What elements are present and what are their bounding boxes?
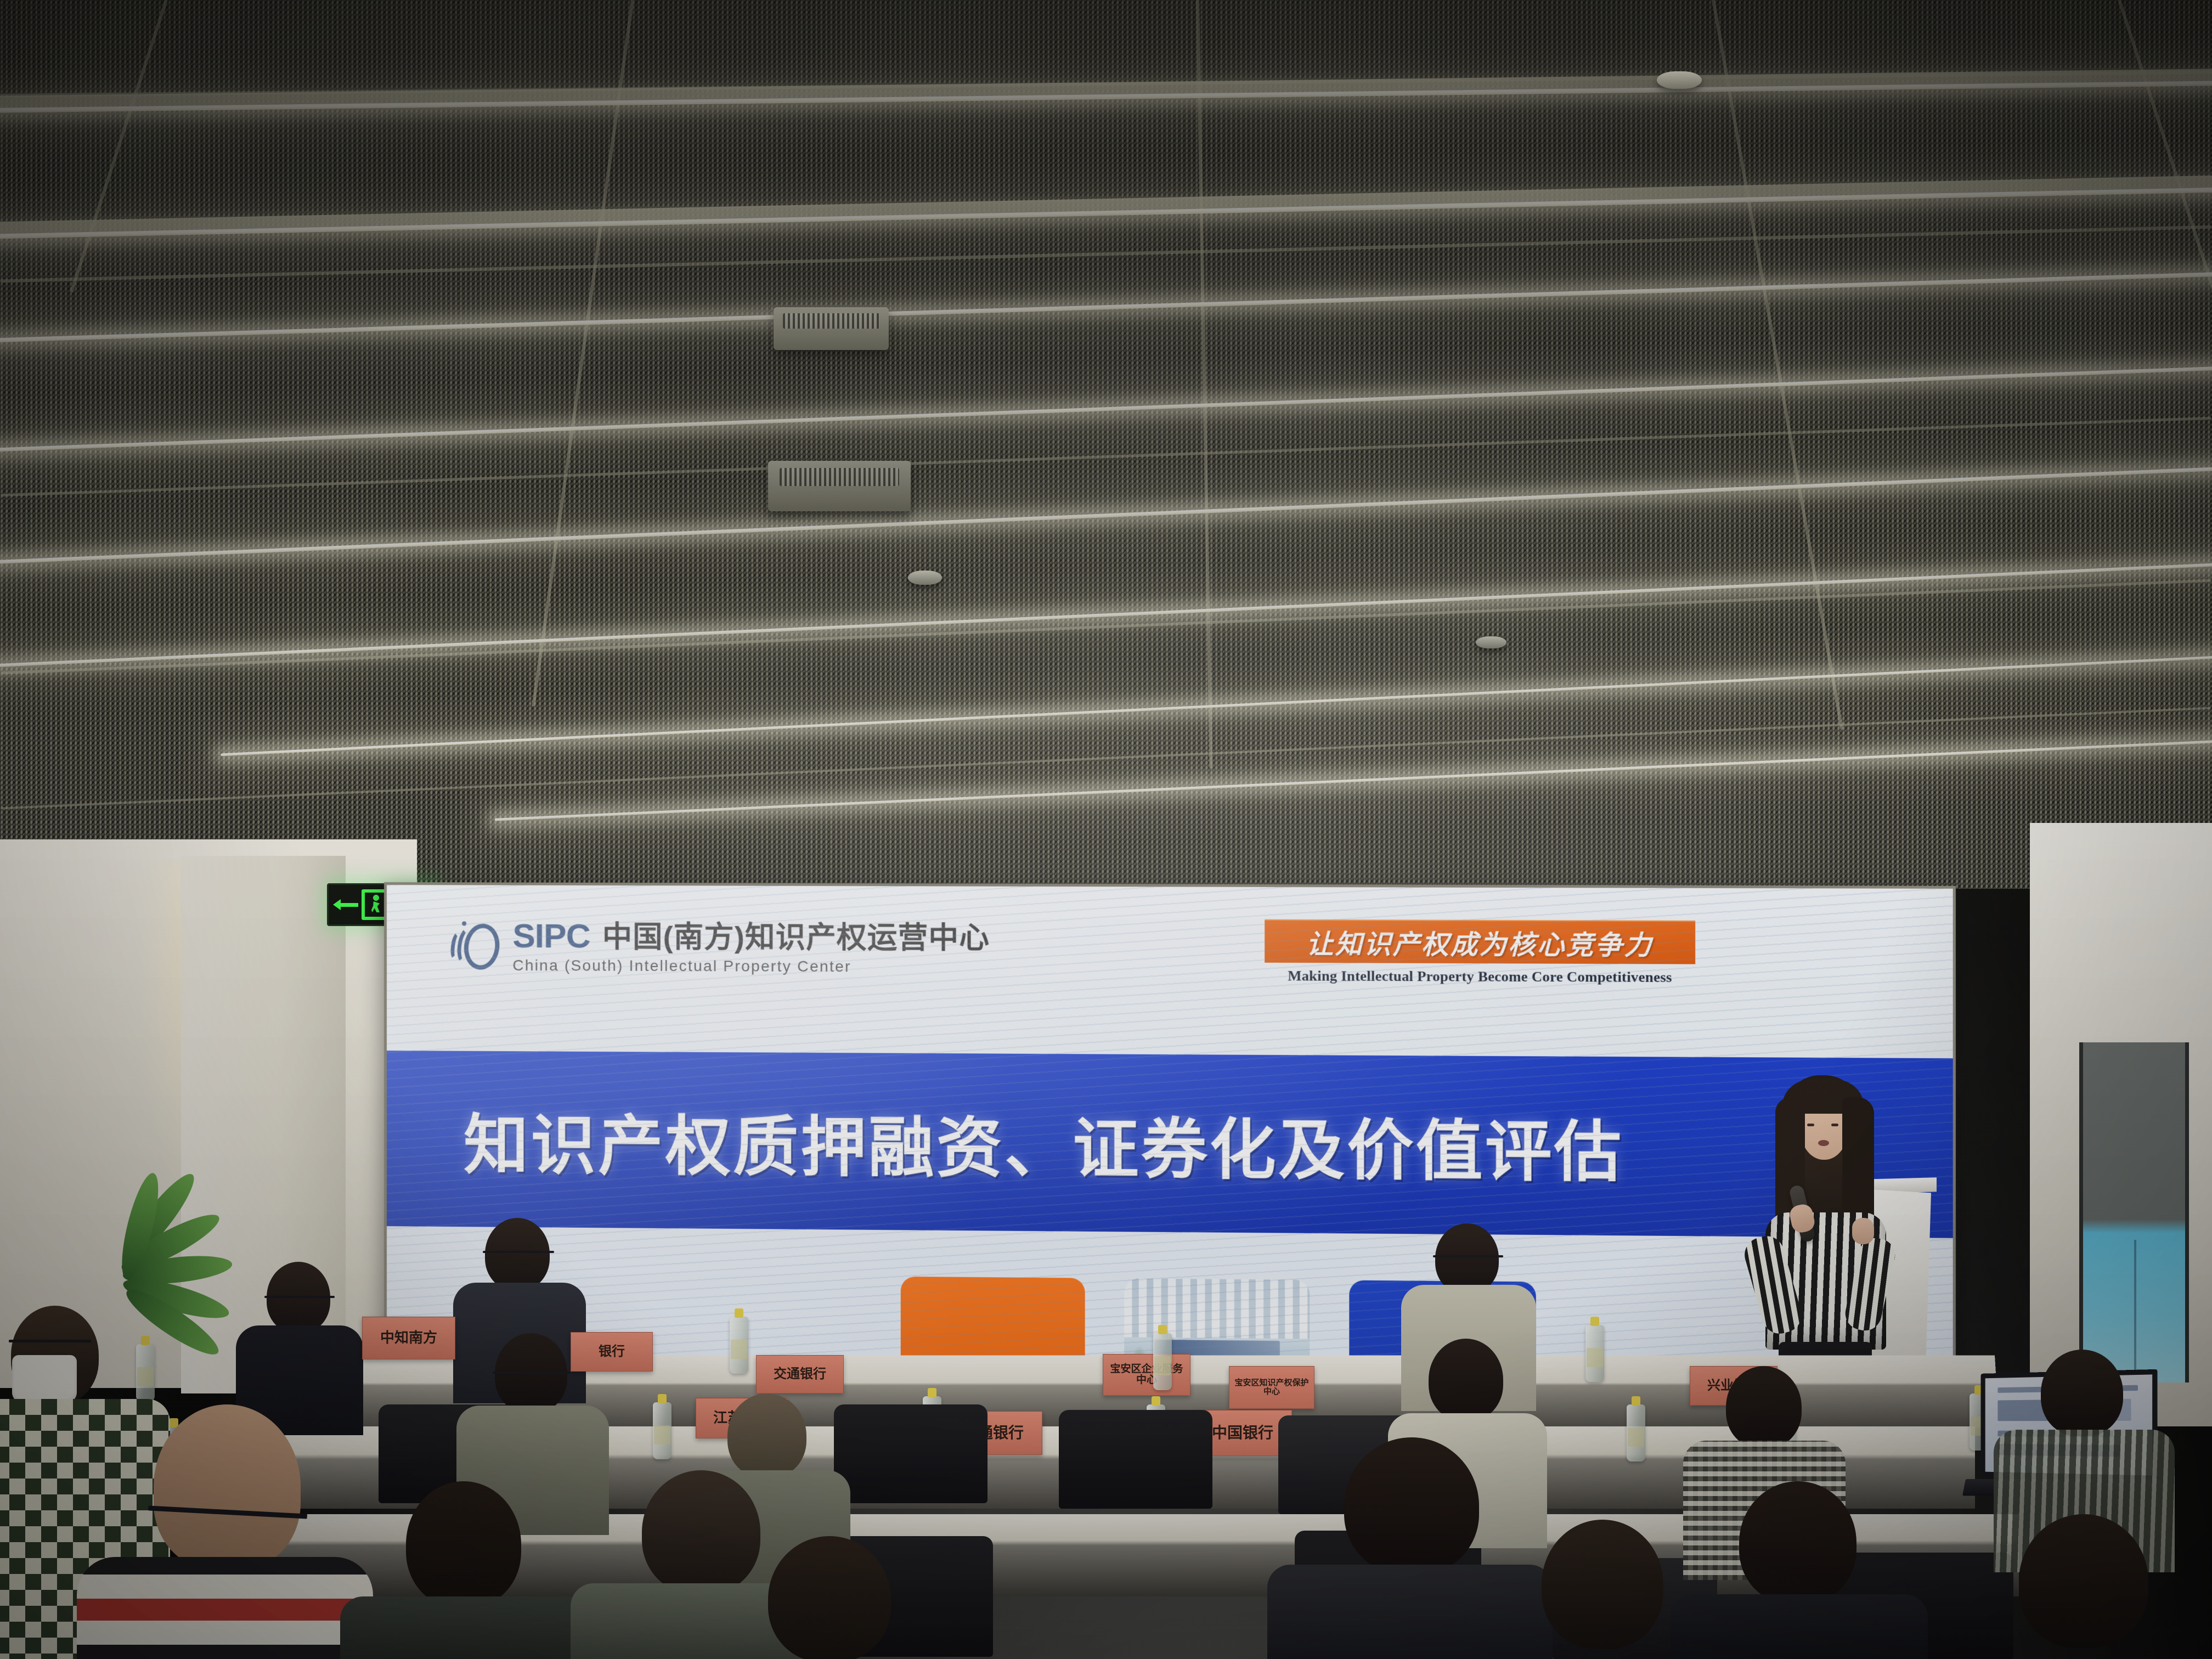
slide-header: SIPC 中国(南方)知识产权运营中心 China (South) Intell… xyxy=(387,885,1953,1057)
attendee xyxy=(702,1536,955,1659)
projection-screen: SIPC 中国(南方)知识产权运营中心 China (South) Intell… xyxy=(384,882,1956,1391)
attendee xyxy=(82,1404,368,1659)
slogan-bar: 让知识产权成为核心竞争力 xyxy=(1265,919,1695,964)
face-mask xyxy=(12,1355,77,1403)
glasses-icon xyxy=(264,1296,335,1298)
water-bottle[interactable] xyxy=(1585,1325,1604,1382)
attendee xyxy=(1679,1481,1915,1659)
slogan-block: 让知识产权成为核心竞争力 Making Intellectual Propert… xyxy=(1265,919,1695,986)
name-card: 交通银行 xyxy=(756,1355,844,1393)
water-bottle[interactable] xyxy=(1627,1404,1645,1462)
slogan-text-en: Making Intellectual Property Become Core… xyxy=(1265,968,1695,986)
chair[interactable] xyxy=(834,1404,988,1503)
glass-partition-door[interactable] xyxy=(2079,1042,2189,1383)
water-bottle[interactable] xyxy=(653,1402,672,1459)
attendee xyxy=(1953,1514,2212,1659)
glasses-icon xyxy=(483,1251,554,1253)
sipc-logo-block: SIPC 中国(南方)知识产权运营中心 China (South) Intell… xyxy=(450,919,990,976)
ceiling-projector xyxy=(768,461,911,511)
glasses-icon xyxy=(493,1372,571,1374)
water-bottle[interactable] xyxy=(1153,1333,1172,1390)
attendee xyxy=(236,1262,362,1426)
chair[interactable] xyxy=(1059,1410,1212,1509)
name-card: 宝安区知识产权保护中心 xyxy=(1229,1366,1314,1409)
sipc-wordmark: SIPC xyxy=(512,919,590,954)
slide-surface: SIPC 中国(南方)知识产权运营中心 China (South) Intell… xyxy=(387,885,1953,1389)
center-name-cn: 中国(南方)知识产权运营中心 xyxy=(602,921,990,955)
slide-title: 知识产权质押融资、证券化及价值评估 xyxy=(464,1092,1623,1194)
glasses-icon xyxy=(9,1340,91,1342)
slogan-text-cn: 让知识产权成为核心竞争力 xyxy=(1306,922,1653,962)
water-bottle[interactable] xyxy=(730,1317,748,1374)
ceiling-projector xyxy=(774,307,889,350)
attendee xyxy=(351,1481,582,1659)
slide-title-band: 知识产权质押融资、证券化及价值评估 xyxy=(387,1051,1953,1238)
center-name-en: China (South) Intellectual Property Cent… xyxy=(512,957,990,976)
left-arrow-icon xyxy=(333,898,358,912)
smoke-detector-icon xyxy=(1657,71,1702,89)
smoke-detector-icon xyxy=(908,571,942,585)
glasses-icon xyxy=(1433,1255,1503,1257)
sipc-logo-icon xyxy=(450,920,503,973)
name-card: 宝安区企业服务中心 xyxy=(1103,1354,1190,1396)
conference-room-photo: 安全出口 EXIT SIPC 中国(南方)知识产权运营中心 Ch xyxy=(0,0,2212,1659)
name-card: 中知南方 xyxy=(362,1317,455,1359)
smoke-detector-icon xyxy=(1476,636,1506,648)
